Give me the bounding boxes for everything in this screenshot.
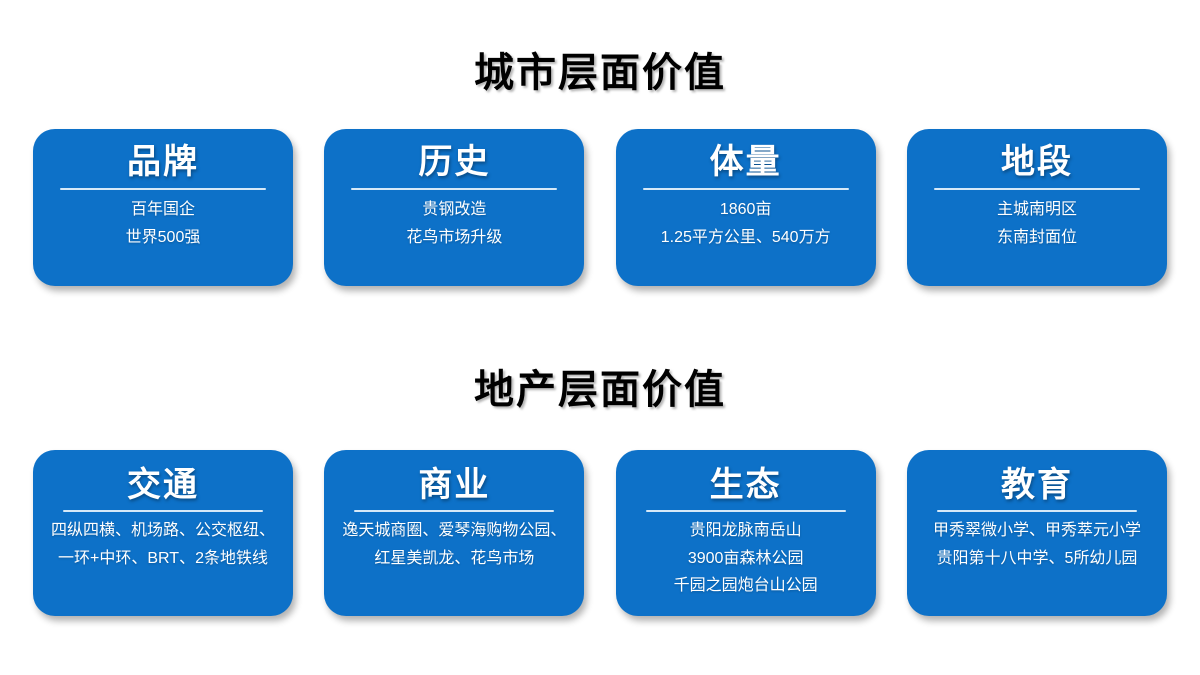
card-row-estate: 交通 四纵四横、机场路、公交枢纽、 一环+中环、BRT、2条地铁线 商业 逸天城… bbox=[33, 450, 1167, 616]
card-divider bbox=[646, 510, 846, 512]
card-line: 主城南明区 bbox=[997, 196, 1077, 224]
card-divider bbox=[60, 188, 266, 190]
card-line: 贵阳第十八中学、5所幼儿园 bbox=[937, 545, 1138, 573]
card-line: 3900亩森林公园 bbox=[688, 545, 804, 573]
card-divider bbox=[934, 188, 1140, 190]
card-line: 红星美凯龙、花鸟市场 bbox=[374, 545, 534, 573]
card-divider bbox=[937, 510, 1137, 512]
card-commerce[interactable]: 商业 逸天城商圈、爱琴海购物公园、 红星美凯龙、花鸟市场 bbox=[324, 450, 584, 616]
card-line: 逸天城商圈、爱琴海购物公园、 bbox=[342, 517, 566, 545]
card-line: 花鸟市场升级 bbox=[406, 224, 502, 252]
card-lines: 甲秀翠微小学、甲秀萃元小学 贵阳第十八中学、5所幼儿园 bbox=[892, 517, 1182, 572]
card-ecology[interactable]: 生态 贵阳龙脉南岳山 3900亩森林公园 千园之园炮台山公园 bbox=[616, 450, 876, 616]
card-line: 百年国企 bbox=[131, 196, 195, 224]
card-divider bbox=[354, 510, 554, 512]
card-title: 体量 bbox=[710, 143, 782, 181]
card-line: 四纵四横、机场路、公交枢纽、 bbox=[51, 517, 275, 545]
card-divider bbox=[63, 510, 263, 512]
card-history[interactable]: 历史 贵钢改造 花鸟市场升级 bbox=[324, 129, 584, 286]
card-volume[interactable]: 体量 1860亩 1.25平方公里、540万方 bbox=[616, 129, 876, 286]
card-title: 品牌 bbox=[127, 143, 199, 181]
card-lines: 四纵四横、机场路、公交枢纽、 一环+中环、BRT、2条地铁线 bbox=[18, 517, 308, 572]
card-divider bbox=[643, 188, 849, 190]
card-title: 教育 bbox=[1001, 466, 1073, 504]
card-title: 交通 bbox=[127, 466, 199, 504]
card-line: 世界500强 bbox=[126, 224, 201, 252]
card-line: 东南封面位 bbox=[997, 224, 1077, 252]
card-education[interactable]: 教育 甲秀翠微小学、甲秀萃元小学 贵阳第十八中学、5所幼儿园 bbox=[907, 450, 1167, 616]
card-title: 历史 bbox=[418, 143, 490, 181]
section-title-estate: 地产层面价值 bbox=[0, 357, 1200, 415]
card-row-city: 品牌 百年国企 世界500强 历史 贵钢改造 花鸟市场升级 体量 1860亩 1… bbox=[33, 129, 1167, 286]
card-title: 商业 bbox=[418, 466, 490, 504]
card-lines: 贵钢改造 花鸟市场升级 bbox=[334, 196, 574, 251]
card-brand[interactable]: 品牌 百年国企 世界500强 bbox=[33, 129, 293, 286]
card-title: 地段 bbox=[1001, 143, 1073, 181]
card-title: 生态 bbox=[710, 466, 782, 504]
card-lines: 百年国企 世界500强 bbox=[43, 196, 283, 251]
card-line: 贵阳龙脉南岳山 bbox=[690, 517, 802, 545]
card-divider bbox=[351, 188, 557, 190]
slide-canvas: 城市层面价值 品牌 百年国企 世界500强 历史 贵钢改造 花鸟市场升级 体量 … bbox=[0, 0, 1200, 675]
card-transport[interactable]: 交通 四纵四横、机场路、公交枢纽、 一环+中环、BRT、2条地铁线 bbox=[33, 450, 293, 616]
card-line: 1860亩 bbox=[720, 196, 772, 224]
section-title-city: 城市层面价值 bbox=[0, 40, 1200, 98]
card-lines: 贵阳龙脉南岳山 3900亩森林公园 千园之园炮台山公园 bbox=[626, 517, 866, 600]
card-line: 千园之园炮台山公园 bbox=[674, 572, 818, 600]
card-line: 甲秀翠微小学、甲秀萃元小学 bbox=[933, 517, 1141, 545]
card-line: 1.25平方公里、540万方 bbox=[661, 224, 831, 252]
card-location[interactable]: 地段 主城南明区 东南封面位 bbox=[907, 129, 1167, 286]
card-lines: 逸天城商圈、爱琴海购物公园、 红星美凯龙、花鸟市场 bbox=[309, 517, 599, 572]
card-lines: 主城南明区 东南封面位 bbox=[917, 196, 1157, 251]
card-lines: 1860亩 1.25平方公里、540万方 bbox=[610, 196, 882, 251]
card-line: 一环+中环、BRT、2条地铁线 bbox=[58, 545, 268, 573]
card-line: 贵钢改造 bbox=[422, 196, 486, 224]
